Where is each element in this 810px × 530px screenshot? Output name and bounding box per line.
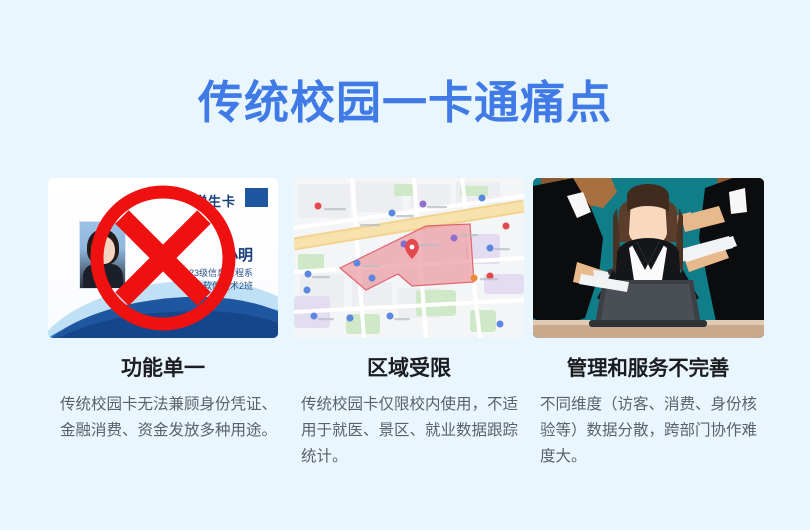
card-heading: 区域受限 xyxy=(294,356,524,381)
card-media-map xyxy=(294,178,524,338)
slide-root: 传统校园一卡通痛点 学生卡 xyxy=(0,0,810,530)
card-media-student-card: 学生卡 小明 23级信息工程系 软件技术2班 xyxy=(48,178,278,338)
card-body-text: 传统校园卡仅限校内使用，不适用于就医、景区、就业数据跟踪统计。 xyxy=(294,392,524,470)
page-title: 传统校园一卡通痛点 xyxy=(0,77,810,129)
card-chip-icon xyxy=(245,188,268,207)
card-media-office xyxy=(533,178,764,338)
red-x-circle-icon xyxy=(87,182,239,334)
card-heading: 管理和服务不完善 xyxy=(533,356,763,381)
campus-map-image xyxy=(294,178,524,338)
card-management-service: 管理和服务不完善 不同维度（访客、消费、身份核验等）数据分散，跨部门协作难度大。 xyxy=(533,178,763,470)
card-body-text: 不同维度（访客、消费、身份核验等）数据分散，跨部门协作难度大。 xyxy=(533,392,763,470)
card-heading: 功能单一 xyxy=(48,356,278,381)
office-svg xyxy=(533,178,764,338)
card-body-text: 传统校园卡无法兼顾身份凭证、金融消费、资金发放多种用途。 xyxy=(48,392,278,444)
card-area-limited: 区域受限 传统校园卡仅限校内使用，不适用于就医、景区、就业数据跟踪统计。 xyxy=(294,178,524,470)
card-function-single: 学生卡 小明 23级信息工程系 软件技术2班 功能单一 传统校园卡无法兼顾身份凭… xyxy=(48,178,278,444)
office-illustration-image xyxy=(533,178,764,338)
cards-row: 学生卡 小明 23级信息工程系 软件技术2班 功能单一 传统校园卡无法兼顾身份凭… xyxy=(0,178,810,518)
map-svg xyxy=(294,178,524,338)
